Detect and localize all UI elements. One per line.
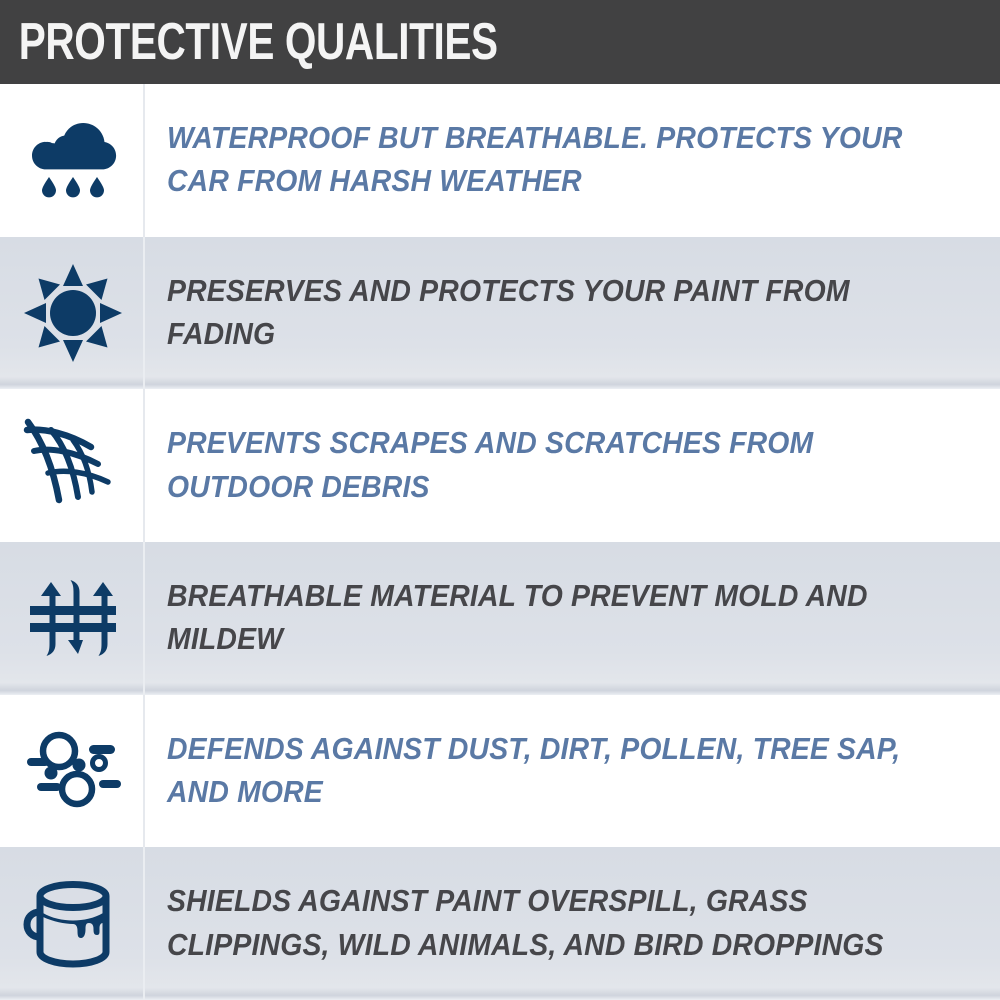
feature-text: DEFENDS AGAINST DUST, DIRT, POLLEN, TREE… bbox=[167, 728, 903, 815]
text-cell: SHIELDS AGAINST PAINT OVERSPILL, GRASS C… bbox=[145, 847, 1000, 1000]
header-bar: PROTECTIVE QUALITIES bbox=[0, 0, 1000, 84]
list-item: BREATHABLE MATERIAL TO PREVENT MOLD AND … bbox=[0, 542, 1000, 695]
scratches-icon bbox=[21, 414, 125, 518]
list-item: PREVENTS SCRAPES AND SCRATCHES FROM OUTD… bbox=[0, 389, 1000, 542]
icon-cell bbox=[0, 847, 145, 1000]
list-item: PRESERVES AND PROTECTS YOUR PAINT FROM F… bbox=[0, 237, 1000, 390]
protective-qualities-infographic: PROTECTIVE QUALITIES WATERP bbox=[0, 0, 1000, 1000]
feature-text: PRESERVES AND PROTECTS YOUR PAINT FROM F… bbox=[167, 270, 903, 357]
dust-particles-icon bbox=[21, 719, 125, 823]
page-title: PROTECTIVE QUALITIES bbox=[0, 16, 498, 68]
icon-cell bbox=[0, 237, 145, 390]
feature-text: BREATHABLE MATERIAL TO PREVENT MOLD AND … bbox=[167, 575, 903, 662]
paint-can-icon bbox=[21, 872, 125, 976]
feature-list: WATERPROOF BUT BREATHABLE. PROTECTS YOUR… bbox=[0, 84, 1000, 1000]
feature-text: SHIELDS AGAINST PAINT OVERSPILL, GRASS C… bbox=[167, 880, 903, 967]
text-cell: PRESERVES AND PROTECTS YOUR PAINT FROM F… bbox=[145, 237, 1000, 390]
icon-cell bbox=[0, 542, 145, 695]
text-cell: BREATHABLE MATERIAL TO PREVENT MOLD AND … bbox=[145, 542, 1000, 695]
feature-text: WATERPROOF BUT BREATHABLE. PROTECTS YOUR… bbox=[167, 117, 903, 204]
list-item: DEFENDS AGAINST DUST, DIRT, POLLEN, TREE… bbox=[0, 695, 1000, 848]
icon-cell bbox=[0, 389, 145, 542]
icon-cell bbox=[0, 84, 145, 237]
rain-cloud-icon bbox=[21, 108, 125, 212]
airflow-arrows-icon bbox=[21, 566, 125, 670]
icon-cell bbox=[0, 695, 145, 848]
text-cell: DEFENDS AGAINST DUST, DIRT, POLLEN, TREE… bbox=[145, 695, 1000, 848]
text-cell: PREVENTS SCRAPES AND SCRATCHES FROM OUTD… bbox=[145, 389, 1000, 542]
feature-text: PREVENTS SCRAPES AND SCRATCHES FROM OUTD… bbox=[167, 422, 903, 509]
list-item: WATERPROOF BUT BREATHABLE. PROTECTS YOUR… bbox=[0, 84, 1000, 237]
text-cell: WATERPROOF BUT BREATHABLE. PROTECTS YOUR… bbox=[145, 84, 1000, 237]
sun-icon bbox=[21, 261, 125, 365]
list-item: SHIELDS AGAINST PAINT OVERSPILL, GRASS C… bbox=[0, 847, 1000, 1000]
